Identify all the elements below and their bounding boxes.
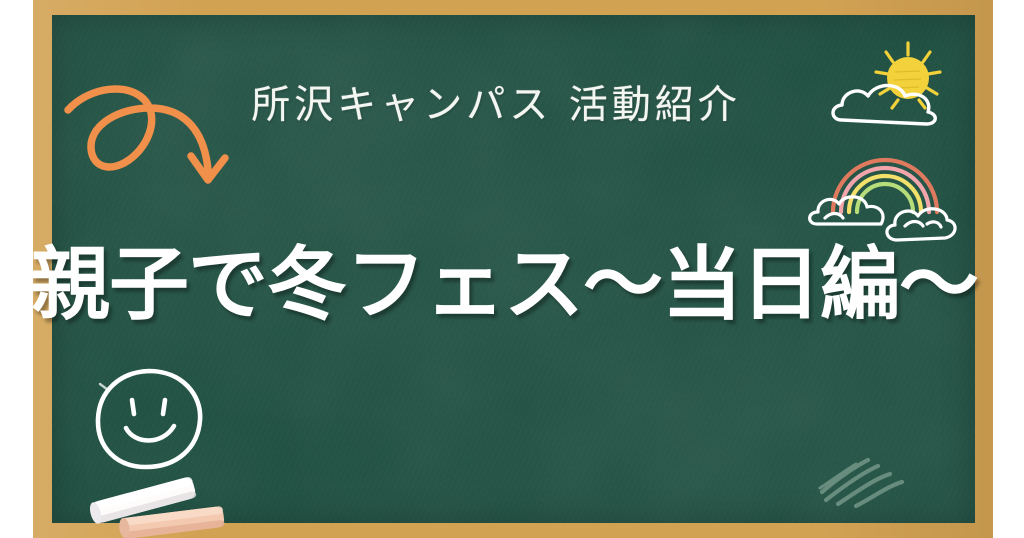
board-subtitle: 所沢キャンパス 活動紹介	[186, 86, 806, 127]
screenshot-canvas: 所沢キャンパス 活動紹介 親子で冬フェス〜当日編〜	[0, 0, 1024, 538]
board-title: 親子で冬フェス〜当日編〜	[30, 245, 895, 325]
